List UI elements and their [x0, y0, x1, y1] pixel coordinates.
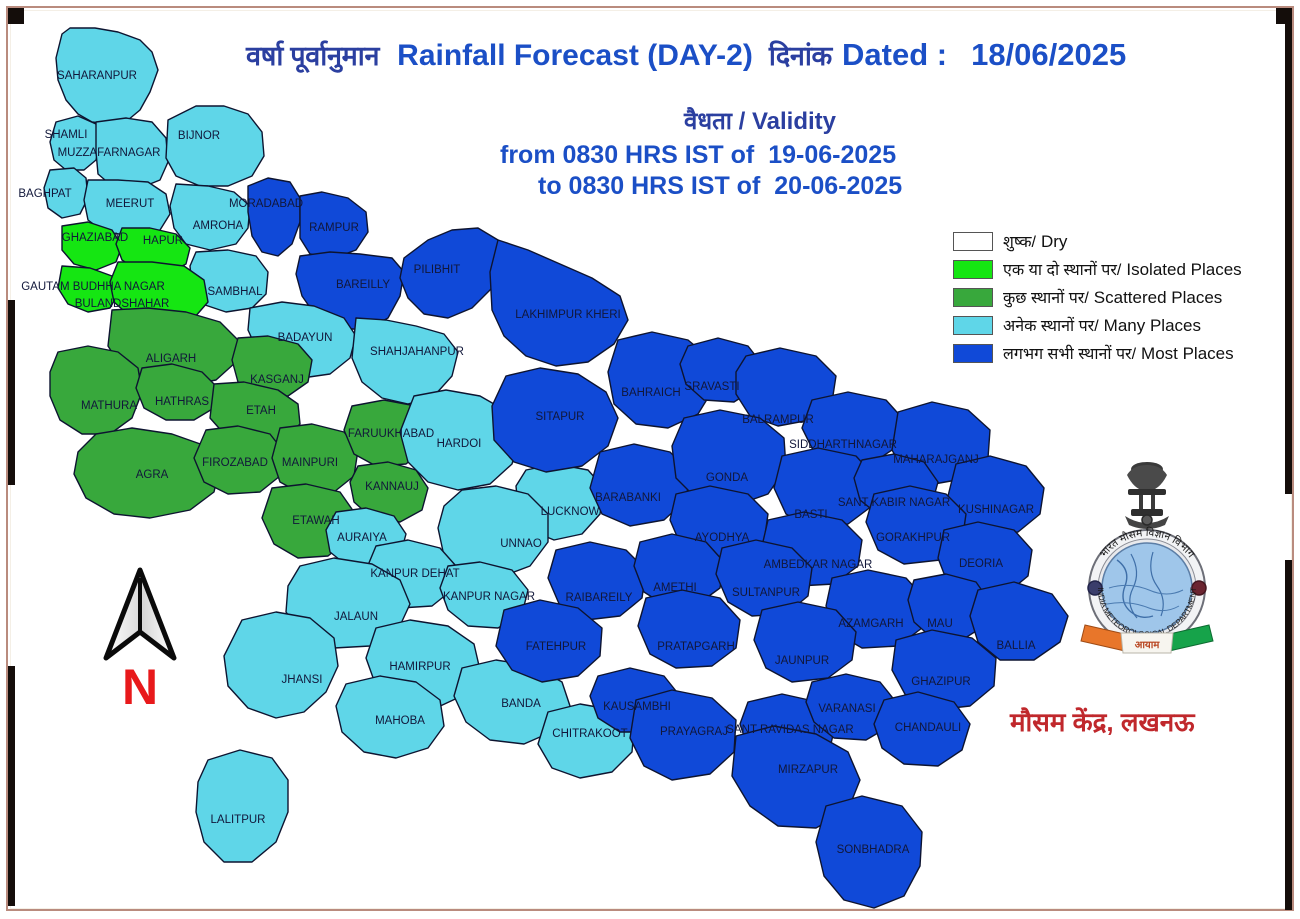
district-label: MEERUT	[106, 198, 155, 210]
district-label: BAHRAICH	[621, 387, 680, 399]
district-label: MATHURA	[81, 400, 137, 412]
district-label: SITAPUR	[536, 411, 585, 423]
district-label: MAHOBA	[375, 715, 425, 727]
district-label: BIJNOR	[178, 130, 220, 142]
district-label: JAUNPUR	[775, 655, 829, 667]
district-label: RAMPUR	[309, 222, 359, 234]
district-label: ALIGARH	[146, 353, 197, 365]
district-label: SAMBHAL	[208, 286, 264, 298]
district-shamli	[50, 116, 100, 170]
district-bijnor	[166, 106, 264, 186]
validity-to-value: 20-06-2025	[774, 172, 902, 201]
district-label: RAIBAREILY	[566, 592, 633, 604]
district-label: AGRA	[136, 469, 169, 481]
district-lalitpur	[196, 750, 288, 862]
north-arrow-icon	[88, 566, 192, 666]
district-label: GHAZIABAD	[62, 232, 128, 244]
district-label: BADAYUN	[278, 332, 333, 344]
district-label: LALITPUR	[211, 814, 266, 826]
legend-label: शुष्क/Dry	[1003, 230, 1067, 252]
district-label: GHAZIPUR	[911, 676, 970, 688]
validity-slash: /	[739, 108, 746, 135]
district-label: MORADABAD	[229, 198, 303, 210]
district-label: HAPUR	[143, 235, 183, 247]
legend-label-hindi: लगभग सभी स्थानों पर/	[1003, 346, 1136, 363]
validity-block: वैधता / Validity from 0830 HRS IST of 19…	[500, 104, 1020, 201]
title-english: Rainfall Forecast (DAY-2)	[397, 39, 753, 73]
district-label: BAGHPAT	[18, 188, 71, 200]
validity-english: Validity	[752, 108, 836, 135]
district-label: SULTANPUR	[732, 587, 800, 599]
district-label: AURAIYA	[337, 532, 387, 544]
district-label: BALRAMPUR	[742, 414, 814, 426]
district-label: GAUTAM BUDHHA NAGAR	[21, 281, 165, 293]
district-label: DEORIA	[959, 558, 1003, 570]
legend-row: कुछ स्थानों पर/Scattered Places	[953, 284, 1242, 310]
district-label: SRAVASTI	[684, 381, 739, 393]
district-label: BANDA	[501, 698, 541, 710]
dated-label: Dated :	[842, 37, 947, 73]
validity-from-row: from 0830 HRS IST of 19-06-2025	[500, 141, 1020, 170]
title-hindi: वर्षा पूर्वानुमान	[246, 36, 379, 73]
district-label: LAKHIMPUR KHERI	[515, 309, 620, 321]
district-label: AMROHA	[193, 220, 244, 232]
validity-from-value: 19-06-2025	[768, 141, 896, 170]
legend-swatch	[953, 344, 993, 363]
district-label: GONDA	[706, 472, 749, 484]
district-moradabad	[248, 178, 300, 256]
district-label: HAMIRPUR	[389, 661, 450, 673]
legend: शुष्क/Dryएक या दो स्थानों पर/Isolated Pl…	[953, 228, 1242, 368]
legend-label-hindi: अनेक स्थानों पर/	[1003, 318, 1099, 335]
district-label: KASGANJ	[250, 374, 304, 386]
district-label: PILIBHIT	[414, 264, 461, 276]
district-label: BASTI	[794, 509, 827, 521]
district-label: AYODHYA	[695, 532, 750, 544]
district-label: PRATAPGARH	[657, 641, 735, 653]
district-label: AZAMGARH	[838, 618, 903, 630]
district-label: BARABANKI	[595, 492, 661, 504]
validity-heading: वैधता / Validity	[500, 104, 1020, 137]
legend-swatch	[953, 260, 993, 279]
district-label: AMETHI	[653, 582, 696, 594]
legend-row: शुष्क/Dry	[953, 228, 1242, 254]
imd-emblem: सत्यमेव जयते भारत मौसम विज्ञान विभाग	[1062, 455, 1232, 655]
page-title: वर्षा पूर्वानुमान Rainfall Forecast (DAY…	[246, 36, 1266, 73]
legend-label: अनेक स्थानों पर/Many Places	[1003, 314, 1201, 336]
legend-row: अनेक स्थानों पर/Many Places	[953, 312, 1242, 338]
legend-label-hindi: एक या दो स्थानों पर/	[1003, 262, 1121, 279]
district-label: HATHRAS	[155, 396, 209, 408]
district-label: LUCKNOW	[541, 506, 600, 518]
legend-label: लगभग सभी स्थानों पर/Most Places	[1003, 342, 1234, 364]
district-label: SANT KABIR NAGAR	[838, 497, 950, 509]
district-label: CHANDAULI	[895, 722, 961, 734]
north-letter: N	[88, 662, 192, 712]
district-label: BALLIA	[997, 640, 1036, 652]
district-label: FATEHPUR	[526, 641, 587, 653]
district-label: SHAMLI	[45, 129, 88, 141]
district-label: MAHARAJGANJ	[893, 454, 979, 466]
validity-to-label: to 0830 HRS IST of	[538, 172, 760, 201]
district-label: JALAUN	[334, 611, 378, 623]
district-label: MAINPURI	[282, 457, 338, 469]
legend-label-english: Scattered Places	[1094, 288, 1223, 307]
legend-swatch	[953, 316, 993, 335]
district-label: SONBHADRA	[837, 844, 910, 856]
district-label: BULANDSHAHAR	[75, 298, 170, 310]
district-label: AMBEDKAR NAGAR	[764, 559, 873, 571]
legend-label-hindi: शुष्क/	[1003, 234, 1036, 251]
district-pratapgarh	[638, 590, 740, 668]
imd-emblem-icon: सत्यमेव जयते भारत मौसम विज्ञान विभाग	[1062, 455, 1232, 655]
district-label: ETAWAH	[292, 515, 340, 527]
district-label: SIDDHARTHNAGAR	[789, 439, 897, 451]
legend-row: एक या दो स्थानों पर/Isolated Places	[953, 256, 1242, 282]
legend-label-english: Dry	[1041, 232, 1067, 251]
district-label: FIROZABAD	[202, 457, 268, 469]
district-label: SHAHJAHANPUR	[370, 346, 464, 358]
district-jhansi	[224, 612, 338, 718]
emblem-ribbon-text: आयाम	[1135, 640, 1161, 651]
district-label: MAU	[927, 618, 953, 630]
district-label: VARANASI	[818, 703, 875, 715]
district-label: SAHARANPUR	[57, 70, 137, 82]
legend-row: लगभग सभी स्थानों पर/Most Places	[953, 340, 1242, 366]
legend-swatch	[953, 288, 993, 307]
district-label: GORAKHPUR	[876, 532, 950, 544]
district-label: MIRZAPUR	[778, 764, 838, 776]
district-label: KANPUR NAGAR	[443, 591, 535, 603]
legend-label-hindi: कुछ स्थानों पर/	[1003, 290, 1089, 307]
legend-label-english: Isolated Places	[1126, 260, 1241, 279]
legend-swatch	[953, 232, 993, 251]
district-label: PRAYAGRAJ	[660, 726, 728, 738]
district-label: JHANSI	[282, 674, 323, 686]
dated-hindi-label: दिनांक	[769, 36, 832, 73]
district-label: MUZZAFARNAGAR	[58, 147, 161, 159]
district-label: SANT RAVIDAS NAGAR	[726, 724, 853, 736]
legend-label-english: Most Places	[1141, 344, 1234, 363]
legend-label: एक या दो स्थानों पर/Isolated Places	[1003, 258, 1242, 280]
district-label: BAREILLY	[336, 279, 390, 291]
district-label: ETAH	[246, 405, 276, 417]
district-label: FARUUKHABAD	[348, 428, 434, 440]
footer-centre-name: मौसम केंद्र, लखनऊ	[1010, 703, 1195, 739]
district-label: KAUSAMBHI	[603, 701, 671, 713]
validity-to-row: to 0830 HRS IST of 20-06-2025	[538, 172, 1020, 201]
district-label: HARDOI	[437, 438, 482, 450]
legend-label-english: Many Places	[1104, 316, 1201, 335]
validity-from-label: from 0830 HRS IST of	[500, 141, 754, 170]
district-label: KUSHINAGAR	[958, 504, 1034, 516]
dated-value: 18/06/2025	[971, 37, 1126, 73]
district-label: CHITRAKOOT	[552, 728, 627, 740]
validity-hindi: वैधता	[684, 108, 732, 135]
district-label: UNNAO	[500, 538, 542, 550]
rainfall-forecast-map-page: SAHARANPURSHAMLIMUZZAFARNAGARBIJNORBAGHP…	[0, 0, 1300, 919]
legend-label: कुछ स्थानों पर/Scattered Places	[1003, 286, 1222, 308]
north-arrow: N	[88, 566, 192, 716]
district-label: KANPUR DEHAT	[370, 568, 459, 580]
district-lakhimpur-kheri	[490, 240, 628, 366]
imd-seal-icon: भारत मौसम विज्ञान विभाग INDIA METEOROLOG…	[1088, 526, 1206, 646]
district-label: KANNAUJ	[365, 481, 419, 493]
